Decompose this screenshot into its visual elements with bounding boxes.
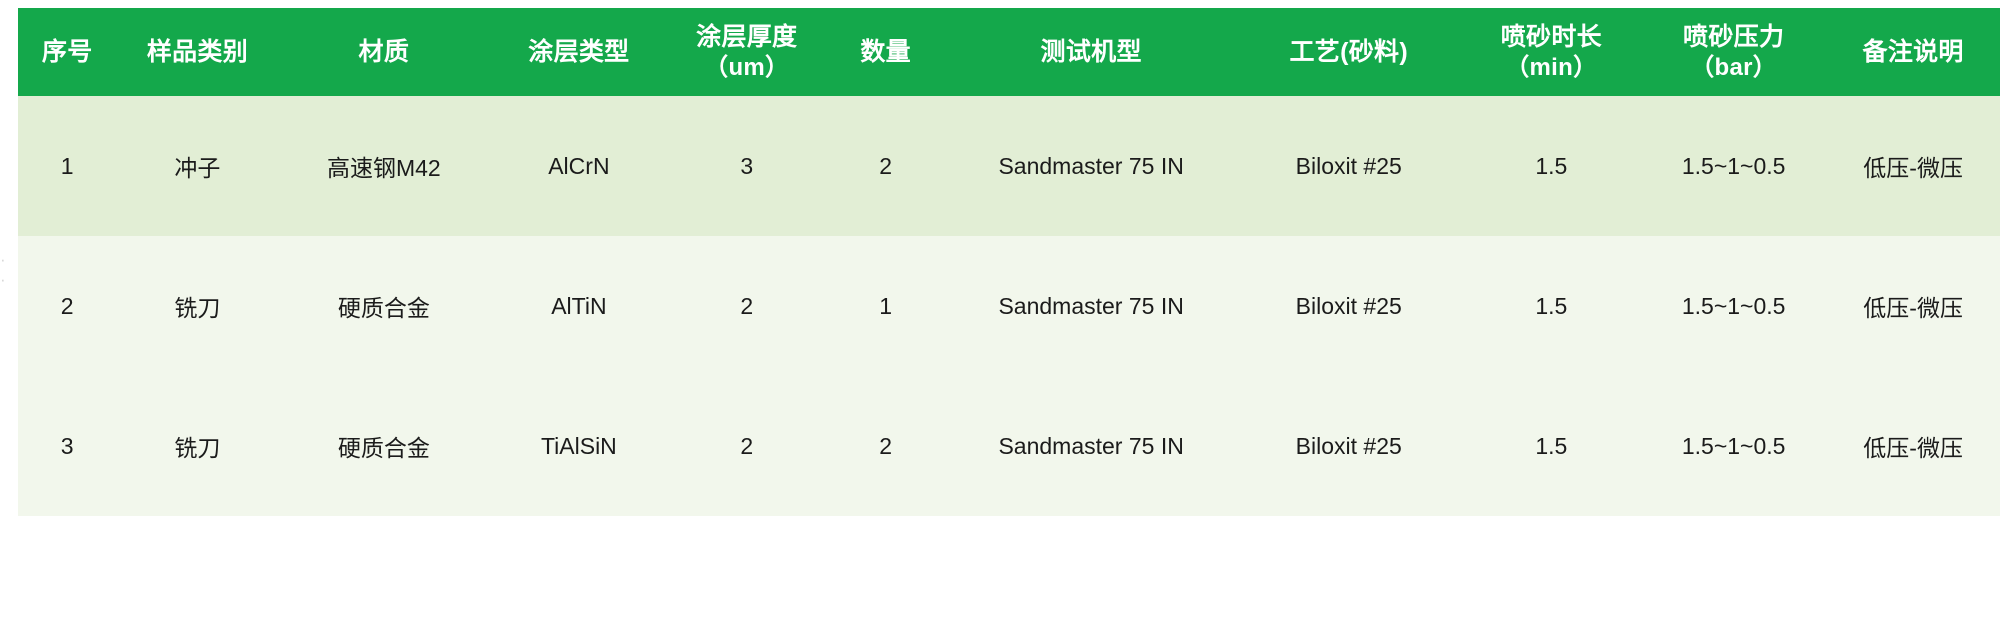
page-root: · · 序号 样品类别 材质 涂层类型 涂 xyxy=(0,0,2015,637)
cell-blast-pressure: 1.5~1~0.5 xyxy=(1641,236,1826,376)
cell-process-media: Biloxit #25 xyxy=(1236,236,1462,376)
cell-no: 2 xyxy=(18,236,116,376)
sample-spec-table: 序号 样品类别 材质 涂层类型 涂层厚度 （um） 数量 xyxy=(18,8,2000,516)
cell-material: 硬质合金 xyxy=(278,376,489,516)
table-row: 3 铣刀 硬质合金 TiAlSiN 2 2 Sandmaster 75 IN B… xyxy=(18,376,2000,516)
cell-blast-pressure: 1.5~1~0.5 xyxy=(1641,376,1826,516)
column-header-material-label: 材质 xyxy=(359,38,410,66)
column-header-sample-type-label: 样品类别 xyxy=(147,38,248,66)
cell-process-media: Biloxit #25 xyxy=(1236,96,1462,236)
cell-coating-thickness: 3 xyxy=(669,96,825,236)
column-header-blast-time-unit: （min） xyxy=(1466,53,1637,83)
cell-process-media: Biloxit #25 xyxy=(1236,376,1462,516)
cell-coating-type: AlCrN xyxy=(489,96,668,236)
cell-test-machine: Sandmaster 75 IN xyxy=(946,376,1235,516)
column-header-blast-time: 喷砂时长 （min） xyxy=(1462,8,1641,96)
column-header-remark: 备注说明 xyxy=(1826,8,2000,96)
column-header-coating-thickness-label: 涂层厚度 xyxy=(696,23,797,51)
column-header-remark-label: 备注说明 xyxy=(1863,38,1964,66)
cell-sample-type: 铣刀 xyxy=(116,236,278,376)
header-row: 序号 样品类别 材质 涂层类型 涂层厚度 （um） 数量 xyxy=(18,8,2000,96)
cell-blast-time: 1.5 xyxy=(1462,96,1641,236)
column-header-process-media-label: 工艺(砂料) xyxy=(1290,38,1408,66)
column-header-blast-pressure-label: 喷砂压力 xyxy=(1683,23,1784,51)
column-header-test-machine-label: 测试机型 xyxy=(1041,38,1142,66)
cell-sample-type: 铣刀 xyxy=(116,376,278,516)
column-header-blast-time-label: 喷砂时长 xyxy=(1501,23,1602,51)
cell-remark: 低压-微压 xyxy=(1826,376,2000,516)
table-header: 序号 样品类别 材质 涂层类型 涂层厚度 （um） 数量 xyxy=(18,8,2000,96)
cell-test-machine: Sandmaster 75 IN xyxy=(946,96,1235,236)
column-header-material: 材质 xyxy=(278,8,489,96)
cell-test-machine: Sandmaster 75 IN xyxy=(946,236,1235,376)
cell-remark: 低压-微压 xyxy=(1826,96,2000,236)
cell-coating-thickness: 2 xyxy=(669,236,825,376)
cell-coating-type: TiAlSiN xyxy=(489,376,668,516)
column-header-no: 序号 xyxy=(18,8,116,96)
column-header-sample-type: 样品类别 xyxy=(116,8,278,96)
column-header-no-label: 序号 xyxy=(42,38,93,66)
cell-coating-type: AlTiN xyxy=(489,236,668,376)
cell-material: 硬质合金 xyxy=(278,236,489,376)
column-header-coating-thickness: 涂层厚度 （um） xyxy=(669,8,825,96)
column-header-quantity: 数量 xyxy=(825,8,947,96)
cell-remark: 低压-微压 xyxy=(1826,236,2000,376)
column-header-blast-pressure-unit: （bar） xyxy=(1645,53,1822,83)
column-header-coating-type-label: 涂层类型 xyxy=(528,38,629,66)
column-header-coating-thickness-unit: （um） xyxy=(673,53,821,83)
column-header-process-media: 工艺(砂料) xyxy=(1236,8,1462,96)
cell-material: 高速钢M42 xyxy=(278,96,489,236)
cell-quantity: 2 xyxy=(825,376,947,516)
table-body: 1 冲子 高速钢M42 AlCrN 3 2 Sandmaster 75 IN B… xyxy=(18,96,2000,516)
column-header-quantity-label: 数量 xyxy=(860,38,911,66)
cell-quantity: 1 xyxy=(825,236,947,376)
cell-blast-pressure: 1.5~1~0.5 xyxy=(1641,96,1826,236)
table-row: 1 冲子 高速钢M42 AlCrN 3 2 Sandmaster 75 IN B… xyxy=(18,96,2000,236)
cell-no: 3 xyxy=(18,376,116,516)
cell-quantity: 2 xyxy=(825,96,947,236)
column-header-coating-type: 涂层类型 xyxy=(489,8,668,96)
cell-sample-type: 冲子 xyxy=(116,96,278,236)
cell-blast-time: 1.5 xyxy=(1462,236,1641,376)
cell-blast-time: 1.5 xyxy=(1462,376,1641,516)
column-header-test-machine: 测试机型 xyxy=(946,8,1235,96)
column-header-blast-pressure: 喷砂压力 （bar） xyxy=(1641,8,1826,96)
cell-no: 1 xyxy=(18,96,116,236)
table-row: 2 铣刀 硬质合金 AlTiN 2 1 Sandmaster 75 IN Bil… xyxy=(18,236,2000,376)
edge-artifact: · · xyxy=(0,250,12,310)
cell-coating-thickness: 2 xyxy=(669,376,825,516)
